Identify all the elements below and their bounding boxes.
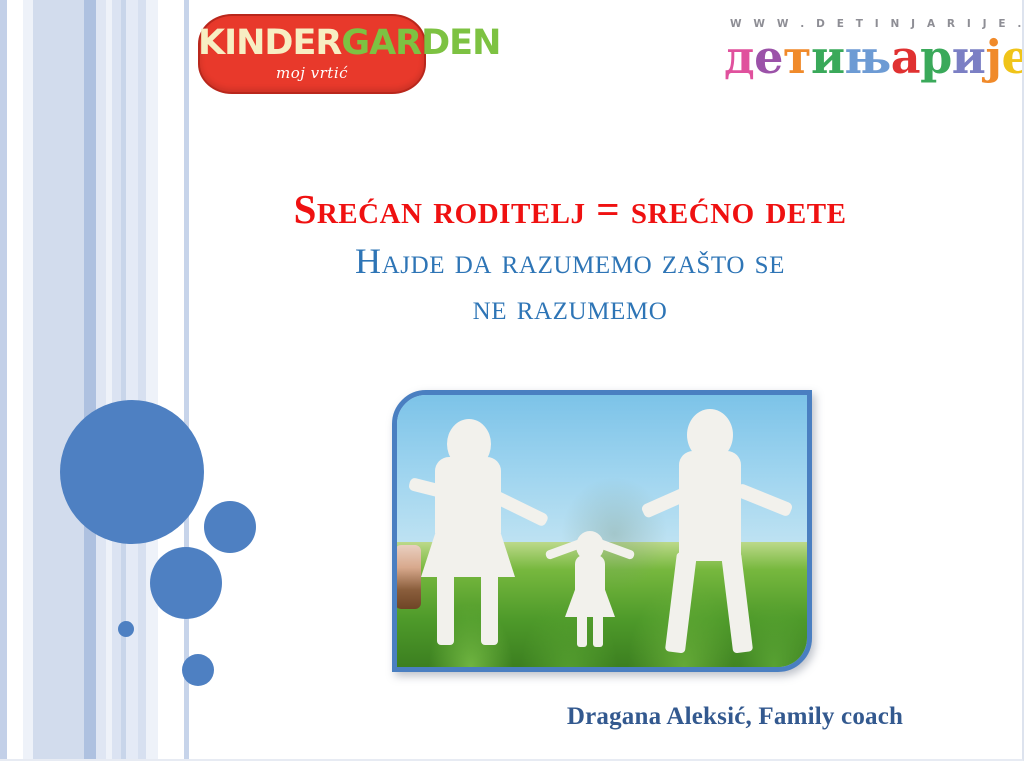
stripe-5 [96,0,106,761]
stripe-2 [23,0,33,761]
detinjarije-letter-9: е [1002,30,1024,84]
bubble-medium [150,547,222,619]
detinjarije-letter-4: њ [845,30,891,84]
stripe-1 [7,0,23,761]
stripe-12 [158,0,184,761]
stripe-6 [106,0,112,761]
family-photo-frame[interactable] [392,390,812,672]
detinjarije-url-text: W W W . D E T I N J A R I J E . C O M [730,18,1024,30]
detinjarije-logo[interactable]: W W W . D E T I N J A R I J E . C O M• д… [724,16,1000,88]
detinjarije-letter-5: а [891,30,920,84]
kindergarden-logo-kinder: KINDER [198,23,341,63]
father-torso [679,451,741,561]
detinjarije-letter-7: и [952,30,986,84]
detinjarije-letter-6: р [920,30,952,84]
kindergarden-logo-tagline: moj vrtić [198,64,426,82]
stripe-13 [184,0,189,761]
bubble-small [204,501,256,553]
detinjarije-letter-1: е [754,30,783,84]
stripe-10 [138,0,146,761]
detinjarije-letter-2: т [783,30,811,84]
kindergarden-logo-wordmark: KINDERGARDEN [198,24,426,62]
stripe-0 [0,0,7,761]
page-subtitle-line-1: Hajde da razumemo zašto se [190,238,950,284]
page-title: Srećan roditelj = srećno dete [190,186,950,232]
page-subtitle-line-2: ne razumemo [190,284,950,330]
photo-holding-hand [397,545,421,609]
author-credit: Dragana Aleksić, Family coach [520,703,950,731]
mother-right-leg [481,571,498,645]
detinjarije-letter-8: ј [985,30,1001,84]
presentation-slide: KINDERGARDEN moj vrtić W W W . D E T I N… [0,0,1024,761]
stripe-9 [126,0,138,761]
detinjarije-wordmark: детињарије [724,32,1000,82]
title-block: Srećan roditelj = srećno dete Hajde da r… [190,186,950,330]
stripe-14 [189,0,200,761]
bubble-large [60,400,204,544]
bubble-xsmall [182,654,214,686]
kindergarden-logo[interactable]: KINDERGARDEN moj vrtić [198,14,426,94]
page-subtitle: Hajde da razumemo zašto se ne razumemo [190,238,950,330]
child-right-leg [593,611,603,647]
family-paper-cutout-photo [397,395,807,667]
mother-left-leg [437,571,454,645]
detinjarije-website-url: W W W . D E T I N J A R I J E . C O M• [730,16,1000,31]
stripe-11 [146,0,158,761]
stripe-8 [121,0,126,761]
stripe-3 [33,0,84,761]
detinjarije-letter-0: д [724,30,754,84]
stripe-7 [112,0,121,761]
child-left-leg [577,611,587,647]
left-stripe-decoration [0,0,200,761]
stripe-4 [84,0,96,761]
detinjarije-letter-3: и [811,30,845,84]
kindergarden-logo-garden: GARDEN [341,23,500,63]
bubble-tiny [118,621,134,637]
